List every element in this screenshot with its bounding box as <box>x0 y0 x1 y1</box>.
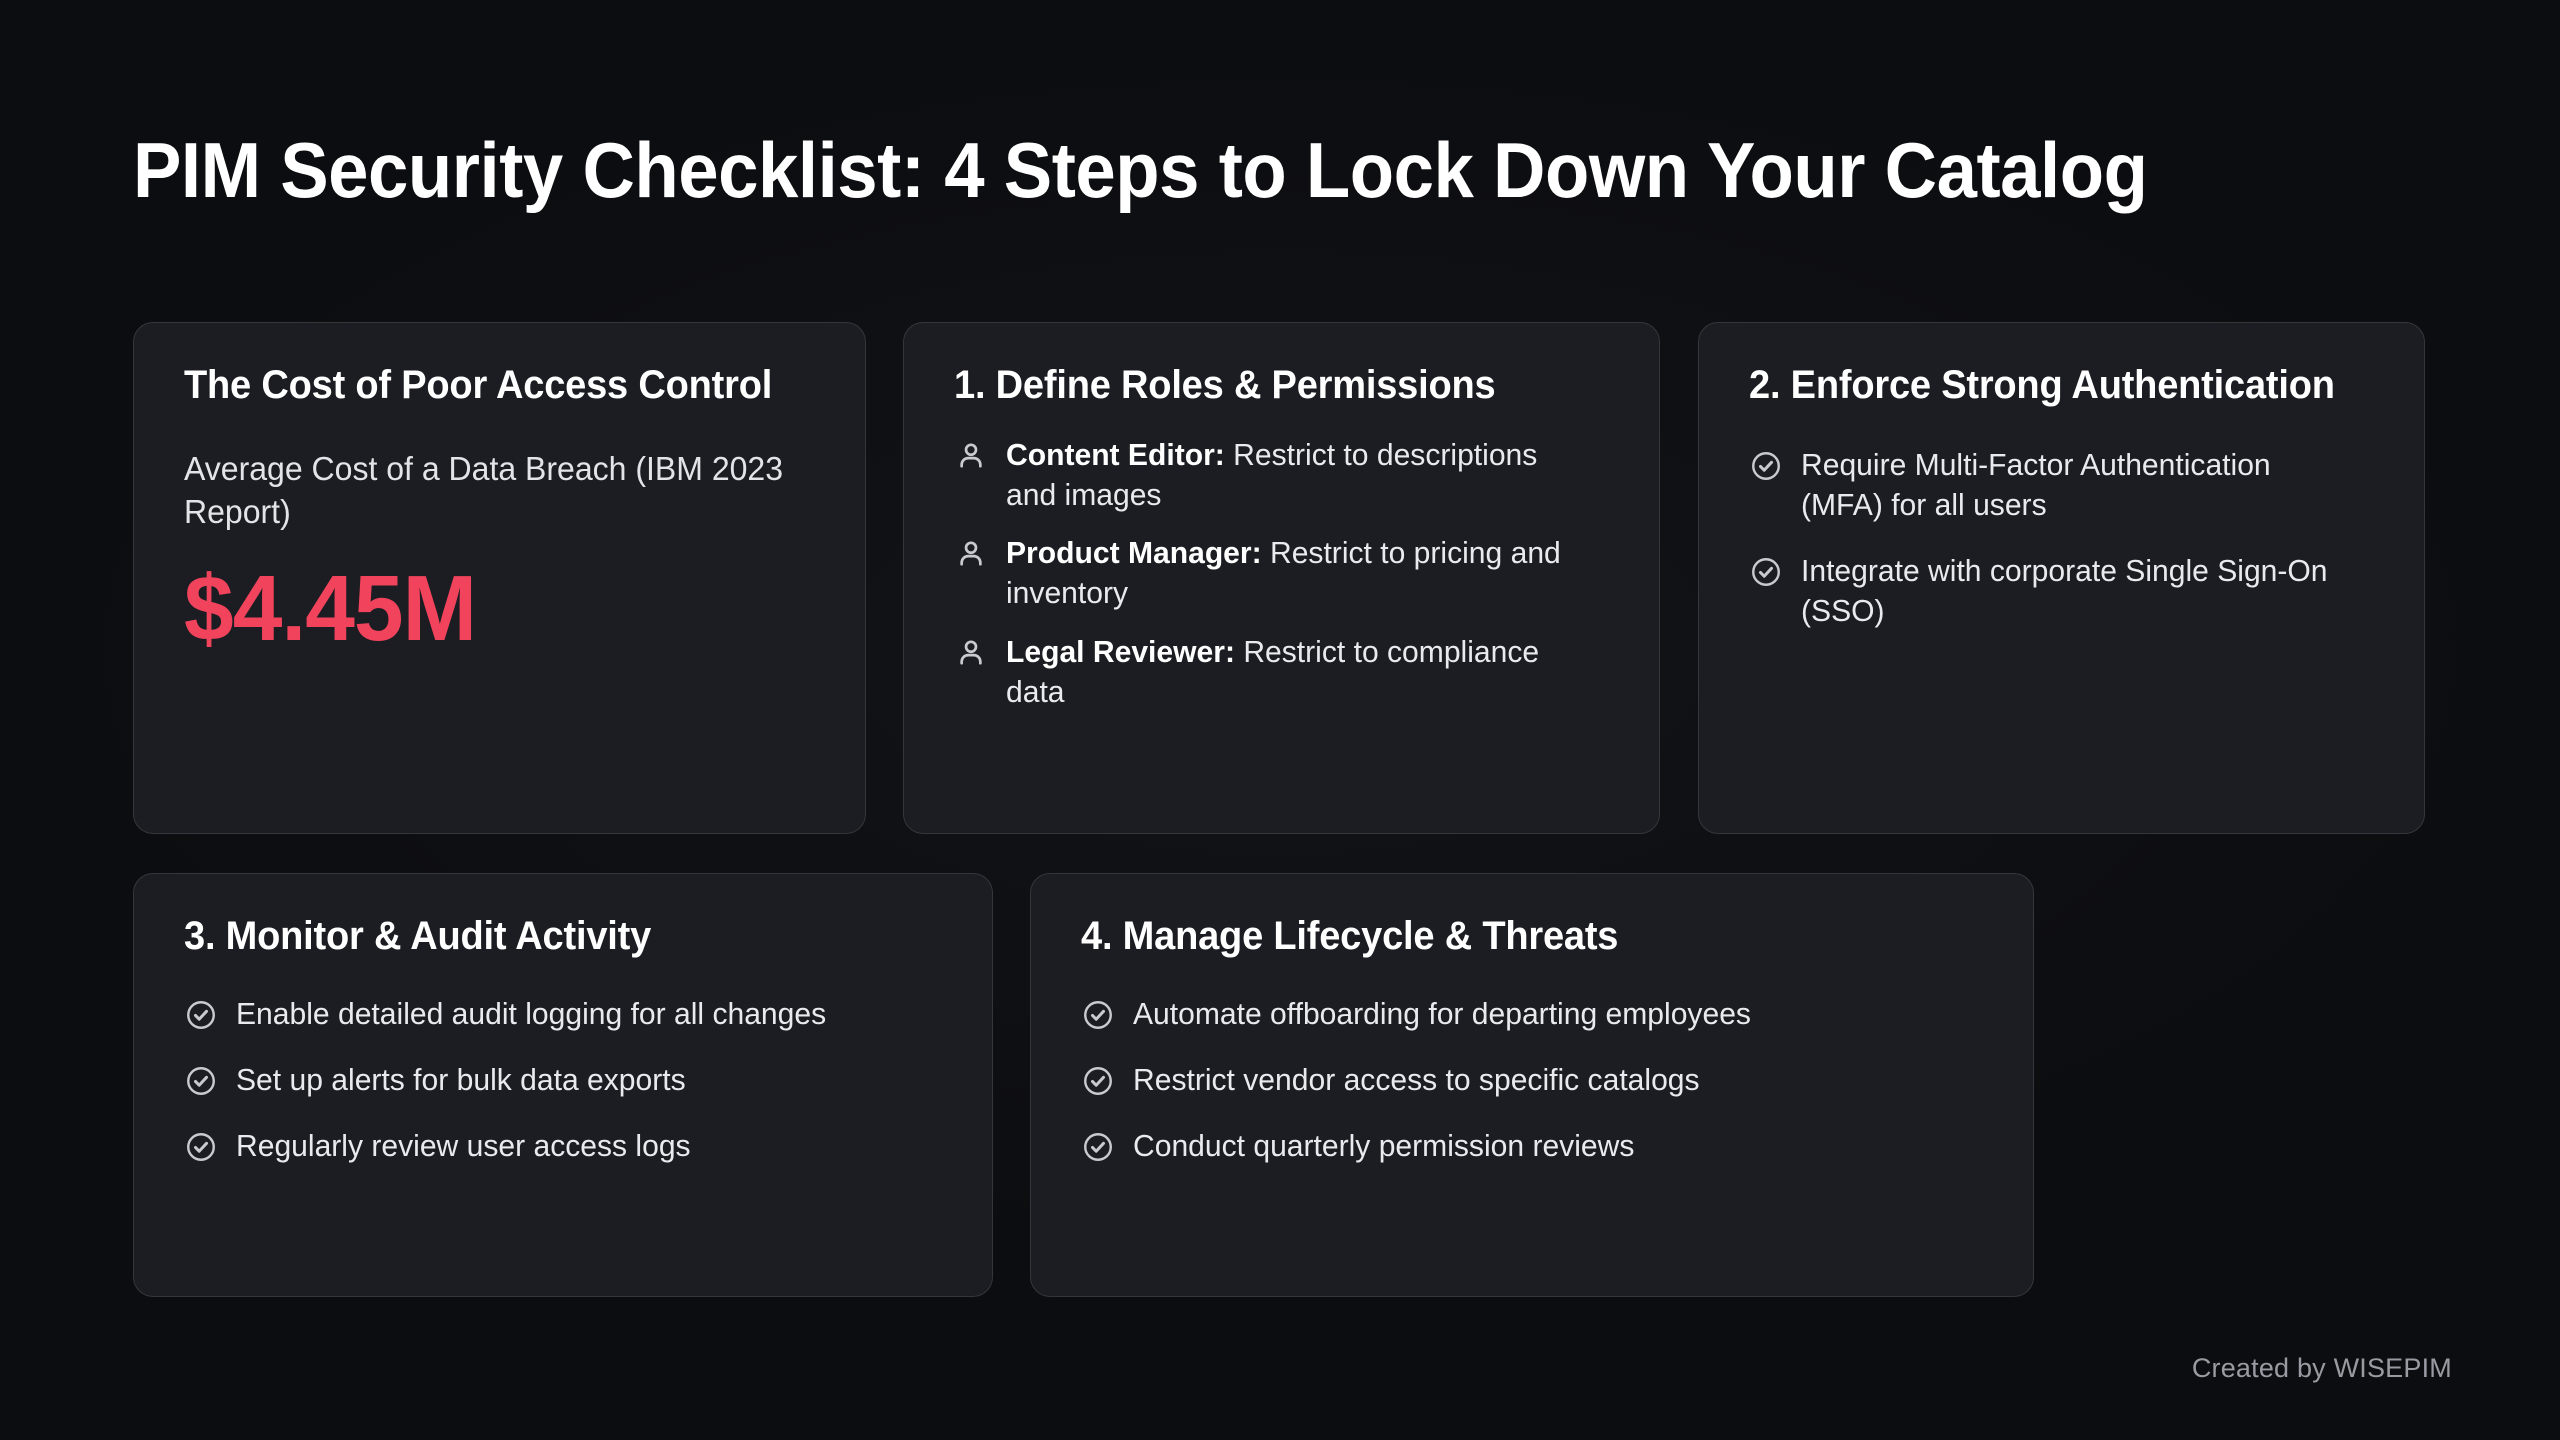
list-item-text: Legal Reviewer: Restrict to compliance d… <box>1006 632 1593 713</box>
list-item: Automate offboarding for departing emplo… <box>1081 994 1985 1034</box>
list-item: Product Manager: Restrict to pricing and… <box>954 533 1611 614</box>
footer-credit: Created by WISEPIM <box>2192 1353 2452 1384</box>
card-manage-lifecycle-threats: 4. Manage Lifecycle & Threats Automate o… <box>1030 873 2034 1297</box>
list-item-text: Conduct quarterly permission reviews <box>1133 1126 1634 1166</box>
card-define-roles-permissions: 1. Define Roles & Permissions Content Ed… <box>903 322 1660 834</box>
list-item-label: Content Editor: <box>1006 437 1225 472</box>
monitor-list: Enable detailed audit logging for all ch… <box>184 994 944 1167</box>
check-circle-icon <box>184 1130 218 1164</box>
page-title: PIM Security Checklist: 4 Steps to Lock … <box>133 128 2291 212</box>
list-item-label: Legal Reviewer: <box>1006 634 1235 669</box>
list-item-text: Content Editor: Restrict to descriptions… <box>1006 435 1593 516</box>
list-item: Content Editor: Restrict to descriptions… <box>954 435 1611 516</box>
card-title: 1. Define Roles & Permissions <box>954 363 1578 409</box>
person-icon <box>954 439 988 473</box>
list-item-text: Restrict vendor access to specific catal… <box>1133 1060 1700 1100</box>
roles-list: Content Editor: Restrict to descriptions… <box>954 435 1611 713</box>
check-circle-icon <box>184 998 218 1032</box>
list-item-text: Product Manager: Restrict to pricing and… <box>1006 533 1593 614</box>
check-circle-icon <box>184 1064 218 1098</box>
check-circle-icon <box>1749 555 1783 589</box>
list-item: Legal Reviewer: Restrict to compliance d… <box>954 632 1611 713</box>
card-enforce-strong-authentication: 2. Enforce Strong Authentication Require… <box>1698 322 2425 834</box>
lifecycle-list: Automate offboarding for departing emplo… <box>1081 994 1985 1167</box>
list-item-text: Automate offboarding for departing emplo… <box>1133 994 1751 1034</box>
card-title: 3. Monitor & Audit Activity <box>184 914 906 960</box>
list-item-text: Enable detailed audit logging for all ch… <box>236 994 826 1034</box>
list-item: Set up alerts for bulk data exports <box>184 1060 944 1100</box>
list-item: Conduct quarterly permission reviews <box>1081 1126 1985 1166</box>
list-item-label: Product Manager: <box>1006 535 1262 570</box>
list-item: Enable detailed audit logging for all ch… <box>184 994 944 1034</box>
card-monitor-audit-activity: 3. Monitor & Audit Activity Enable detai… <box>133 873 993 1297</box>
list-item-text: Integrate with corporate Single Sign-On … <box>1801 551 2359 632</box>
check-circle-icon <box>1749 449 1783 483</box>
auth-list: Require Multi-Factor Authentication (MFA… <box>1749 445 2376 632</box>
stat-value: $4.45M <box>184 562 792 655</box>
list-item: Integrate with corporate Single Sign-On … <box>1749 551 2376 632</box>
list-item: Require Multi-Factor Authentication (MFA… <box>1749 445 2376 526</box>
check-circle-icon <box>1081 1130 1115 1164</box>
list-item-text: Require Multi-Factor Authentication (MFA… <box>1801 445 2359 526</box>
list-item-text: Set up alerts for bulk data exports <box>236 1060 686 1100</box>
list-item-text: Regularly review user access logs <box>236 1126 691 1166</box>
infographic-page: PIM Security Checklist: 4 Steps to Lock … <box>0 0 2560 1440</box>
list-item: Restrict vendor access to specific catal… <box>1081 1060 1985 1100</box>
check-circle-icon <box>1081 1064 1115 1098</box>
card-title: The Cost of Poor Access Control <box>184 363 785 409</box>
list-item: Regularly review user access logs <box>184 1126 944 1166</box>
person-icon <box>954 636 988 670</box>
check-circle-icon <box>1081 998 1115 1032</box>
person-icon <box>954 537 988 571</box>
stat-label: Average Cost of a Data Breach (IBM 2023 … <box>184 447 798 534</box>
card-title: 4. Manage Lifecycle & Threats <box>1081 914 1940 960</box>
card-title: 2. Enforce Strong Authentication <box>1749 363 2345 409</box>
card-cost-of-poor-access-control: The Cost of Poor Access Control Average … <box>133 322 866 834</box>
